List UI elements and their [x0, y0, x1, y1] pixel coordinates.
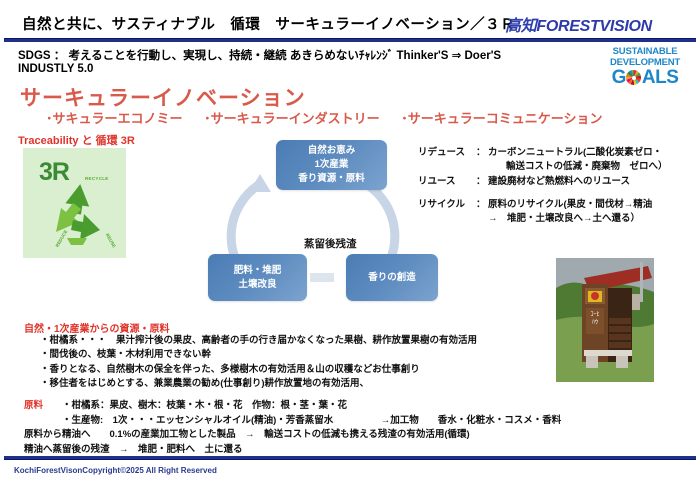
sdg-goals-als: ALS [642, 68, 679, 87]
svg-text:ｺｰﾋ: ｺｰﾋ [590, 311, 599, 318]
section2-row-1: 原料・柑橘系：果皮、樹木：枝葉・木・根・花 作物：根・茎・葉・花 [24, 399, 584, 414]
traceability-label: Traceability と 循環 3R [18, 132, 135, 148]
page-title: 自然と共に、サスティナブル 循環 サーキュラーイノベーション／３Ｒ [22, 13, 515, 34]
three-r-recycle-desc-line1: 原料のリサイクル(果皮・間伐材→精油 [488, 199, 652, 210]
section1-line-3: ・香りとなる、自然樹木の保全を伴った、多様樹木の有効活用＆山の収穫などお仕事創り [40, 363, 510, 377]
circular-cycle-diagram: 自然お恵み 1次産業 香り資源・原料 肥料・堆肥 土壌改良 香りの創造 蒸留後残… [198, 136, 428, 314]
cycle-caption-residue: 蒸留後残渣 [304, 236, 357, 251]
cycle-box-fragrance: 香りの創造 [346, 254, 438, 301]
three-r-logo: 3R RECYCLE REDUCE REUSE [23, 148, 126, 258]
sdg-logo-line1: SUSTAINABLE [598, 47, 692, 57]
sdgs-statement-line2: INDUSTLY 5.0 [18, 63, 93, 75]
three-r-recycle-name: リサイクル [418, 198, 476, 226]
circular-subitem-communication: ･サーキュラーコミュニケーション [401, 111, 602, 126]
section2-heading: 原料 [24, 399, 62, 414]
three-r-row-reduce: リデュース ： カーボンニュートラル(二酸化炭素ゼロ・ 輸送コストの低減・廃棄物… [418, 146, 696, 174]
section1-line-1: ・柑橘系・・・ 果汁搾汁後の果皮、高齢者の手の行き届かなくなった果樹、耕作放置果… [40, 334, 510, 348]
brand-forestvision-label: FORESTVISION [536, 18, 652, 35]
three-r-reuse-desc: 建設廃材など熱燃料へのリユース [488, 175, 696, 189]
three-r-reuse-name: リユース [418, 175, 476, 189]
section2-body: 原料・柑橘系：果皮、樹木：枝葉・木・根・花 作物：根・茎・葉・花 ・生産物: 1… [24, 399, 584, 458]
slide-root: 自然と共に、サスティナブル 循環 サーキュラーイノベーション／３Ｒ 高知FORE… [0, 0, 700, 485]
photo-content-icon: ｺｰﾋ ﾊｳ [556, 258, 654, 382]
svg-text:ﾊｳ: ﾊｳ [592, 319, 598, 326]
three-r-recycle-desc: 原料のリサイクル(果皮・間伐材→精油 → 堆肥・土壌改良へ→土へ還る） [488, 198, 696, 226]
cycle-box-fertilizer-line1: 肥料・堆肥 [234, 264, 282, 278]
cycle-box-nature-line3: 香り資源・原料 [298, 172, 365, 186]
sdg-logo: SUSTAINABLE DEVELOPMENT G ALS [598, 47, 692, 91]
sdg-goals-g: G [612, 68, 626, 87]
sdg-logo-line2: DEVELOPMENT [598, 58, 692, 68]
circular-subitem-economy: ･サキュラーエコノミー [46, 111, 183, 126]
three-r-row-reuse: リユース ： 建設廃材など熱燃料へのリユース [418, 175, 696, 189]
three-r-row-recycle: リサイクル ： 原料のリサイクル(果皮・間伐材→精油 → 堆肥・土壌改良へ→土へ… [418, 198, 696, 226]
section1-body: ・柑橘系・・・ 果汁搾汁後の果皮、高齢者の手の行き届かなくなった果樹、耕作放置果… [40, 334, 510, 392]
three-r-reuse-colon: ： [476, 175, 488, 189]
section1-line-2: ・間伐後の、枝葉・木材利用できない幹 [40, 348, 510, 362]
brand-kochi-label: 高知 [505, 18, 536, 35]
three-r-reduce-colon: ： [476, 146, 488, 174]
sdg-color-wheel-icon [626, 70, 641, 85]
cycle-box-fertilizer: 肥料・堆肥 土壌改良 [208, 254, 307, 301]
three-r-reduce-desc-line1: カーボンニュートラル(二酸化炭素ゼロ・ [488, 147, 662, 158]
three-r-spacer [418, 189, 696, 198]
section2-line-3: 原料から精油へ 0.1%の産業加工物とした製品 → 輸送コストの低減も携える残渣… [24, 428, 584, 443]
brand-logo: 高知FORESTVISION [505, 12, 652, 36]
footer-copyright: KochiForestVisonCopyright©2025 All Right… [14, 466, 217, 475]
sdg-logo-goals: G ALS [598, 68, 692, 87]
roadside-stand-photo: ｺｰﾋ ﾊｳ [556, 258, 654, 382]
section2-line-2: ・生産物: 1次・・・エッセンシャルオイル(精油)・芳香蒸留水 →加工物 香水・… [24, 414, 584, 429]
circular-innovation-subitems: ･サキュラーエコノミー ･サーキュラーインダストリー ･サーキュラーコミュニケー… [46, 108, 621, 127]
cycle-box-fertilizer-line2: 土壌改良 [238, 278, 276, 292]
cycle-box-nature: 自然お恵み 1次産業 香り資源・原料 [276, 140, 387, 190]
recycling-arrows-icon [47, 180, 109, 246]
section1-line-4: ・移住者をはじめとする、兼業農業の勧め(仕事創り)耕作放置地の有効活用、 [40, 377, 510, 391]
circular-subitem-industry: ･サーキュラーインダストリー [204, 111, 380, 126]
three-r-reduce-name: リデュース [418, 146, 476, 174]
section2-line-1: ・柑橘系：果皮、樹木：枝葉・木・根・花 作物：根・茎・葉・花 [62, 400, 347, 411]
header-divider [4, 38, 696, 42]
three-r-recycle-desc-line2: → 堆肥・土壌改良へ→土へ還る） [488, 212, 696, 226]
three-r-explanation-list: リデュース ： カーボンニュートラル(二酸化炭素ゼロ・ 輸送コストの低減・廃棄物… [418, 146, 696, 227]
cycle-box-fragrance-line1: 香りの創造 [368, 271, 416, 285]
section1-heading: 自然・1次産業からの資源・原料 [24, 320, 170, 335]
cycle-box-nature-line2: 1次産業 [315, 158, 349, 172]
cycle-box-nature-line1: 自然お恵み [308, 144, 356, 158]
three-r-reduce-desc-line2: 輸送コストの低減・廃棄物 ゼロへ） [488, 160, 696, 174]
sdgs-statement-line1: SDGS ： 考えることを行動し、実現し、持続・継続 あきらめないﾁｬﾚﾝｼﾞ … [18, 47, 501, 63]
three-r-reduce-desc: カーボンニュートラル(二酸化炭素ゼロ・ 輸送コストの低減・廃棄物 ゼロへ） [488, 146, 696, 174]
footer-divider [4, 456, 696, 460]
three-r-recycle-colon: ： [476, 198, 488, 226]
